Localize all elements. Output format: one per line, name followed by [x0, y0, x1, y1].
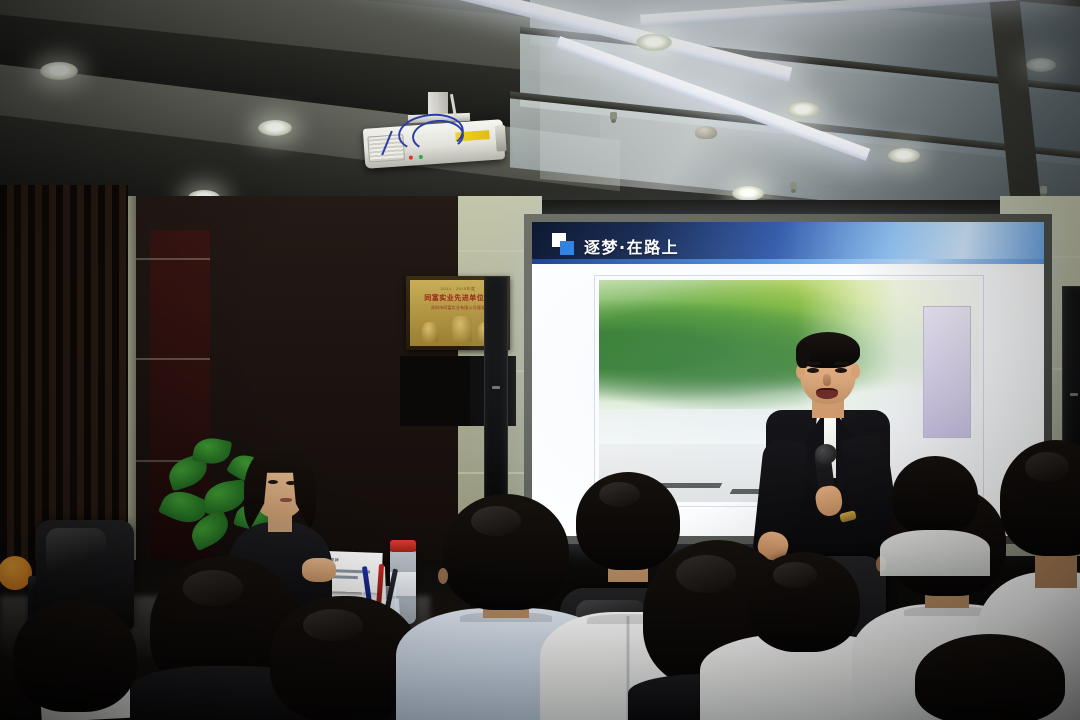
- attendee-head: [748, 552, 860, 652]
- wall-seam: [136, 358, 210, 360]
- attendee-eye: [286, 481, 296, 485]
- downlight: [888, 148, 920, 163]
- attendee-hair-highlight: [471, 506, 521, 536]
- attendee-hair-highlight: [183, 570, 243, 606]
- attendee-mouth: [280, 498, 292, 502]
- downlight: [1026, 58, 1056, 72]
- attendee-eye: [268, 480, 278, 484]
- presenter-eyebrow-right: [834, 362, 849, 365]
- presenter-ear-right: [851, 364, 860, 379]
- downlight: [636, 34, 672, 51]
- photo-side-banner: [923, 306, 971, 438]
- attendee-hair-highlight: [1025, 452, 1070, 482]
- downlight: [258, 120, 292, 136]
- logo-square-blue: [560, 241, 574, 255]
- sprinkler-head-icon: [1040, 186, 1047, 195]
- presenter-eye-right: [835, 368, 847, 373]
- two-squares-logo-icon: [552, 233, 574, 255]
- smoke-detector-icon: [695, 126, 717, 139]
- slide-title: 逐梦·在路上: [584, 234, 679, 258]
- attendee-head: [892, 456, 978, 536]
- slide-header-bar: 逐梦·在路上: [532, 222, 1044, 264]
- attendee-hair-highlight: [303, 609, 363, 642]
- projector-status-led: [419, 155, 423, 159]
- attendee-bottom-right: [900, 634, 1080, 720]
- ceiling: [0, 0, 1080, 215]
- conference-room-photo: 2014 - 2015年度 同富实业先进单位奖 深圳市同富实业有限公司颁发: [0, 0, 1080, 720]
- plaque-ornament: [422, 322, 438, 342]
- plaque-ornament: [452, 316, 472, 342]
- chair-highlight: [46, 528, 106, 584]
- attendee-shoulders: [880, 530, 990, 576]
- sprinkler-head-icon: [790, 182, 797, 191]
- attendee-hair-highlight: [773, 562, 818, 588]
- wall-speaker-left: [484, 276, 508, 506]
- presenter-mouth-speaking: [816, 388, 838, 399]
- sprinkler-head-icon: [610, 112, 617, 121]
- downlight: [40, 62, 78, 80]
- wall-seam: [136, 258, 210, 260]
- downlight: [786, 102, 820, 118]
- attendee-head: [13, 600, 137, 712]
- presenter-eyebrow-left: [806, 362, 821, 365]
- ceiling-projector: [356, 100, 521, 178]
- attendee-silhouette-far-left: [0, 600, 150, 720]
- attendee-head: [1000, 440, 1080, 556]
- downlight: [732, 186, 764, 201]
- attendee-ear: [438, 568, 448, 584]
- projector-power-led: [409, 156, 413, 160]
- slide-header-underline: [532, 259, 1044, 264]
- attendee-back-right: [880, 456, 990, 576]
- presenter-eye-left: [807, 368, 819, 373]
- attendee-hair-highlight: [599, 482, 641, 507]
- attendee-head: [915, 634, 1065, 720]
- presenter-nose: [823, 374, 831, 386]
- projector-lens: [495, 125, 507, 152]
